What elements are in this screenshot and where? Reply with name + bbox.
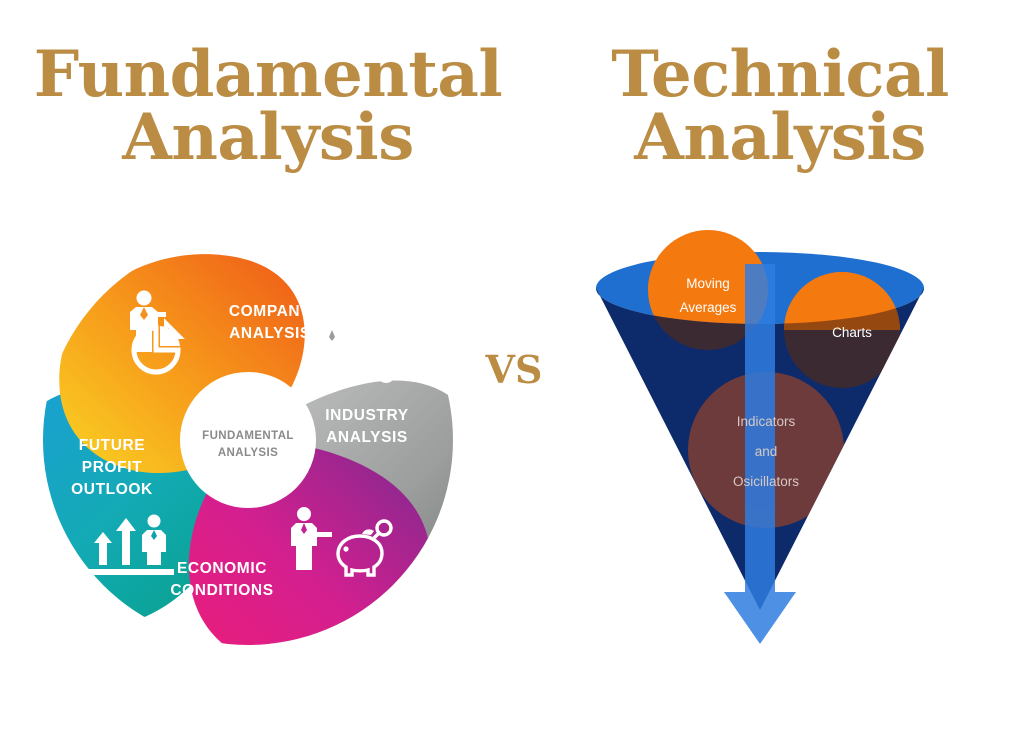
bubble-label-indicators-line-2: and (755, 444, 778, 459)
bubble-label-indicators-line-1: Indicators (737, 414, 796, 429)
segment-label-industry-line-1: INDUSTRY (325, 407, 409, 424)
technical-analysis-diagram: Moving Averages Charts Indicators and Os… (590, 240, 930, 660)
segment-label-economic-line-1: ECONOMIC (177, 560, 267, 577)
page-title-fundamental-analysis: Fundamental Analysis (28, 44, 508, 169)
segment-label-future-line-1: FUTURE (79, 437, 145, 454)
infographic-canvas: Fundamental Analysis Technical Analysis … (0, 0, 1024, 747)
bubble-label-indicators-line-3: Osicillators (733, 474, 799, 489)
segment-label-economic-line-2: CONDITIONS (170, 582, 273, 599)
bubble-label-moving-averages-line-2: Averages (680, 300, 737, 315)
bubble-label-charts-line-1: Charts (832, 325, 872, 340)
segment-label-industry-line-2: ANALYSIS (326, 429, 408, 446)
person-hierarchy-icon (319, 313, 393, 382)
segment-label-company-line-2: ANALYSIS (229, 325, 311, 342)
segment-label-future-line-3: OUTLOOK (71, 481, 153, 498)
page-title-technical-analysis: Technical Analysis (560, 44, 1000, 169)
center-label-line-1: FUNDAMENTAL (202, 430, 294, 442)
bubble-label-moving-averages-line-1: Moving (686, 276, 730, 291)
segment-label-company-line-1: COMPANY (229, 303, 311, 320)
center-label-line-2: ANALYSIS (218, 447, 278, 459)
segment-label-future-line-2: PROFIT (82, 459, 142, 476)
fundamental-analysis-diagram: FUNDAMENTAL ANALYSIS COMPANY ANALYSIS (30, 228, 490, 668)
